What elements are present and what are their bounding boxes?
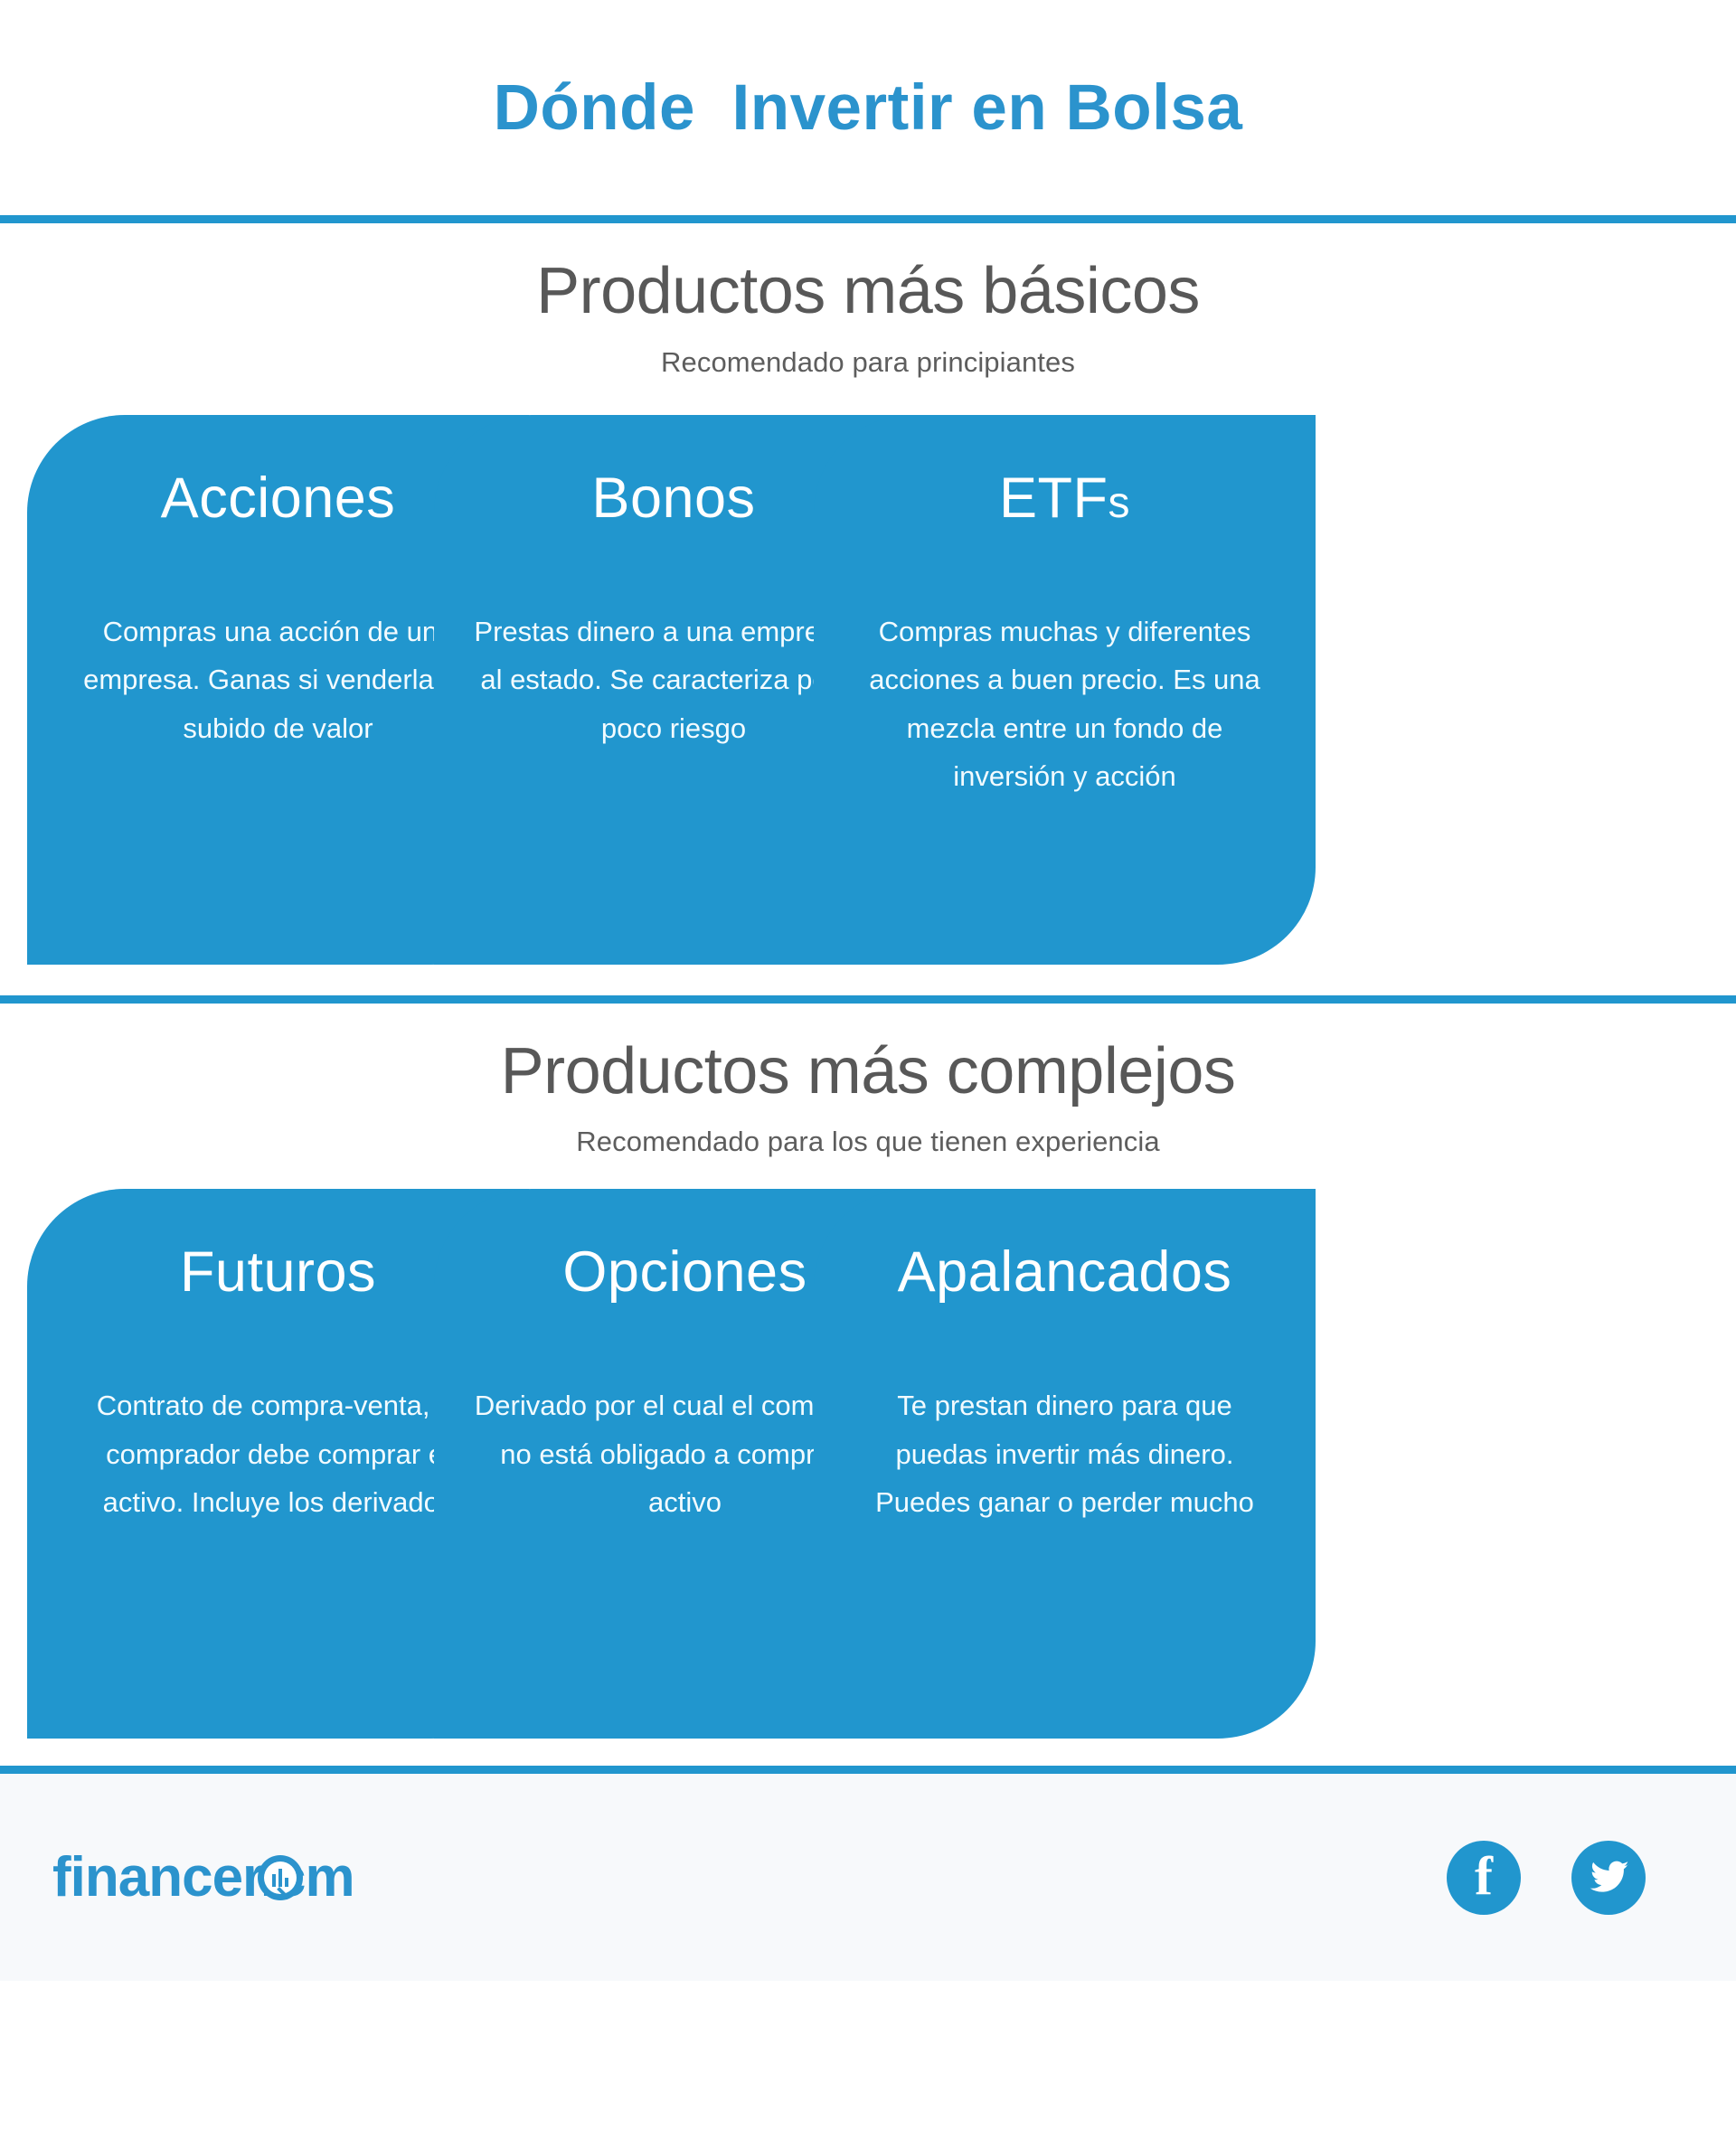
section-complex-products: Productos más complejos Recomendado para… [0, 1004, 1736, 1767]
card-etfs-title-suffix: s [1109, 479, 1131, 527]
facebook-icon[interactable]: f [1447, 1841, 1521, 1915]
card-etfs-title: ETFs [999, 467, 1130, 530]
section-complex-header: Productos más complejos Recomendado para… [0, 1004, 1736, 1159]
card-bonos-title: Bonos [591, 467, 755, 530]
card-row-complex: Futuros Contrato de compra-venta, el com… [0, 1189, 1736, 1739]
section-complex-title: Productos más complejos [0, 1038, 1736, 1107]
card-etfs-title-main: ETF [999, 467, 1109, 530]
twitter-bird-glyph [1586, 1855, 1631, 1900]
section-basic-products: Productos más básicos Recomendado para p… [0, 223, 1736, 995]
card-etfs[interactable]: ETFs Compras muchas y diferentes accione… [814, 415, 1316, 965]
card-futuros-body: Contrato de compra-venta, el comprador d… [66, 1381, 491, 1526]
twitter-icon[interactable] [1571, 1841, 1646, 1915]
section-basic-title: Productos más básicos [0, 258, 1736, 326]
card-opciones-title: Opciones [562, 1241, 807, 1304]
section-complex-subtitle: Recomendado para los que tienen experien… [0, 1126, 1736, 1158]
financer-logo-text-end: m [305, 1845, 354, 1909]
financer-logo[interactable]: financer.c m [52, 1845, 354, 1909]
page-title: Dónde Invertir en Bolsa [494, 71, 1243, 145]
card-acciones-title: Acciones [161, 467, 396, 530]
card-acciones-body: Compras una acción de una empresa. Ganas… [66, 608, 491, 752]
social-links: f [1447, 1841, 1646, 1915]
section-basic-header: Productos más básicos Recomendado para p… [0, 223, 1736, 379]
card-apalancados-body: Te prestan dinero para que puedas invert… [853, 1381, 1278, 1526]
card-row-basic: Acciones Compras una acción de una empre… [0, 415, 1736, 965]
page-header: Dónde Invertir en Bolsa [0, 0, 1736, 215]
card-apalancados[interactable]: Apalancados Te prestan dinero para que p… [814, 1189, 1316, 1739]
divider-top [0, 215, 1736, 223]
page-footer: financer.c m f [0, 1774, 1736, 1981]
card-etfs-body: Compras muchas y diferentes acciones a b… [853, 608, 1278, 800]
divider-footer [0, 1766, 1736, 1774]
card-futuros-title: Futuros [180, 1241, 376, 1304]
facebook-glyph: f [1475, 1849, 1493, 1903]
divider-middle [0, 995, 1736, 1004]
section-basic-subtitle: Recomendado para principiantes [0, 346, 1736, 379]
card-apalancados-title: Apalancados [898, 1241, 1232, 1304]
